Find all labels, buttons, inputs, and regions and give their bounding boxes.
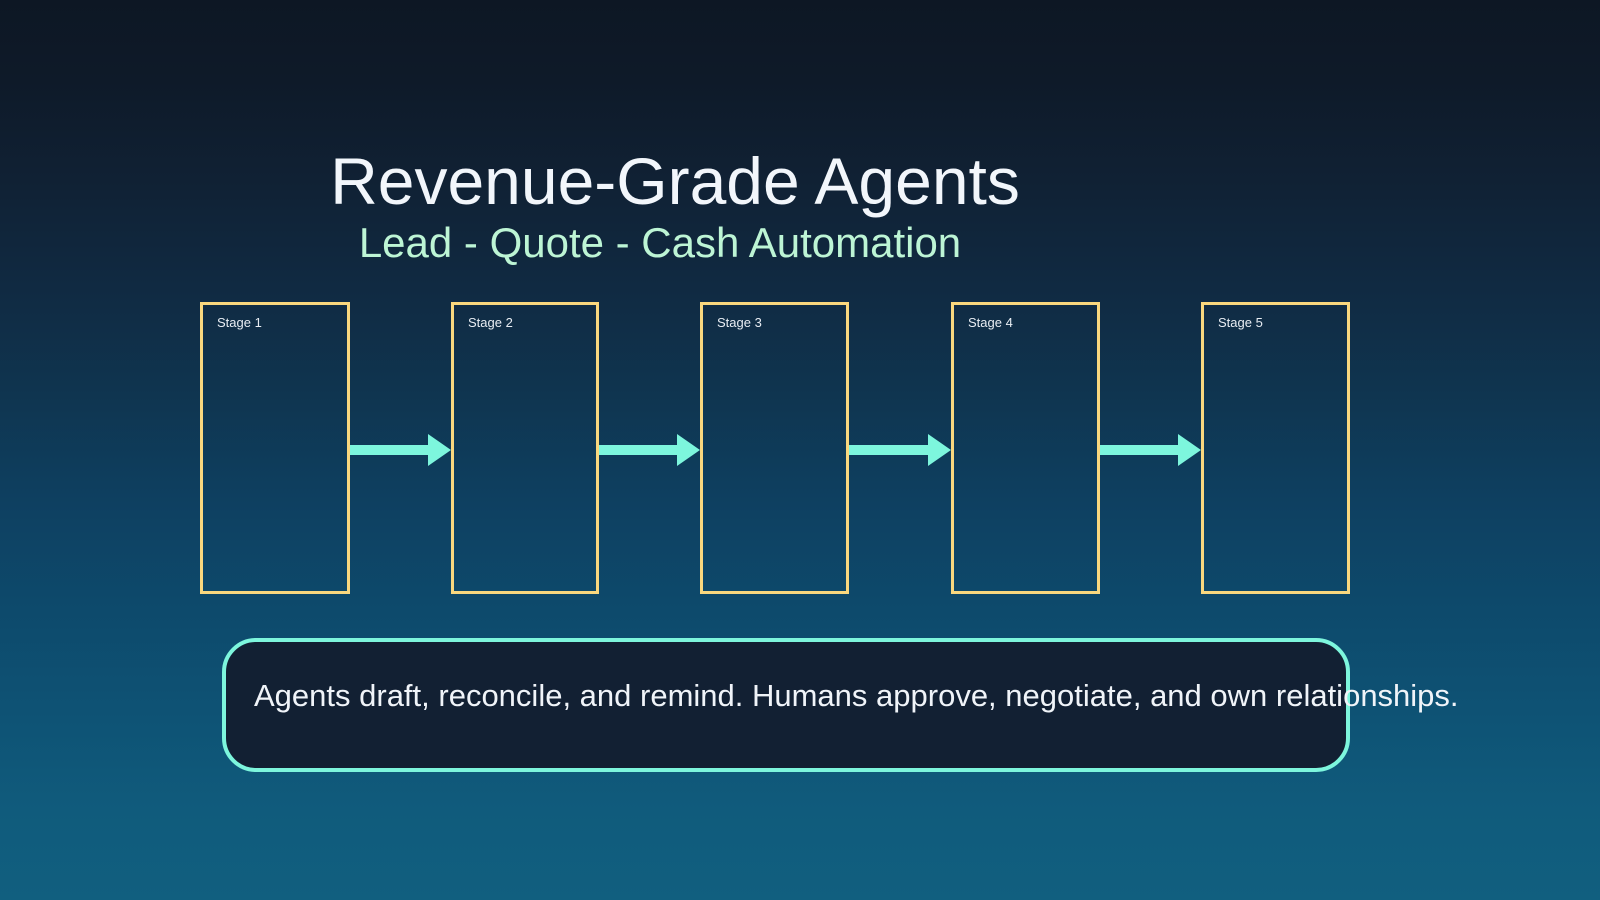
pipeline-arrow-3 [849, 432, 951, 468]
stage-box-5[interactable]: Stage 5 [1201, 302, 1350, 594]
pipeline-arrow-4 [1100, 432, 1201, 468]
stage-box-2[interactable]: Stage 2 [451, 302, 599, 594]
stage-label-5: Stage 5 [1218, 315, 1263, 331]
stage-label-4: Stage 4 [968, 315, 1013, 331]
slide-canvas: Revenue-Grade Agents Lead - Quote - Cash… [0, 0, 1600, 900]
stage-box-4[interactable]: Stage 4 [951, 302, 1100, 594]
pipeline-arrow-2 [599, 432, 700, 468]
stage-label-2: Stage 2 [468, 315, 513, 331]
stage-box-3[interactable]: Stage 3 [700, 302, 849, 594]
stage-box-1[interactable]: Stage 1 [200, 302, 350, 594]
stage-label-3: Stage 3 [717, 315, 762, 331]
stage-label-1: Stage 1 [217, 315, 262, 331]
pipeline-arrow-1 [350, 432, 451, 468]
callout-text: Agents draft, reconcile, and remind. Hum… [254, 676, 1600, 716]
